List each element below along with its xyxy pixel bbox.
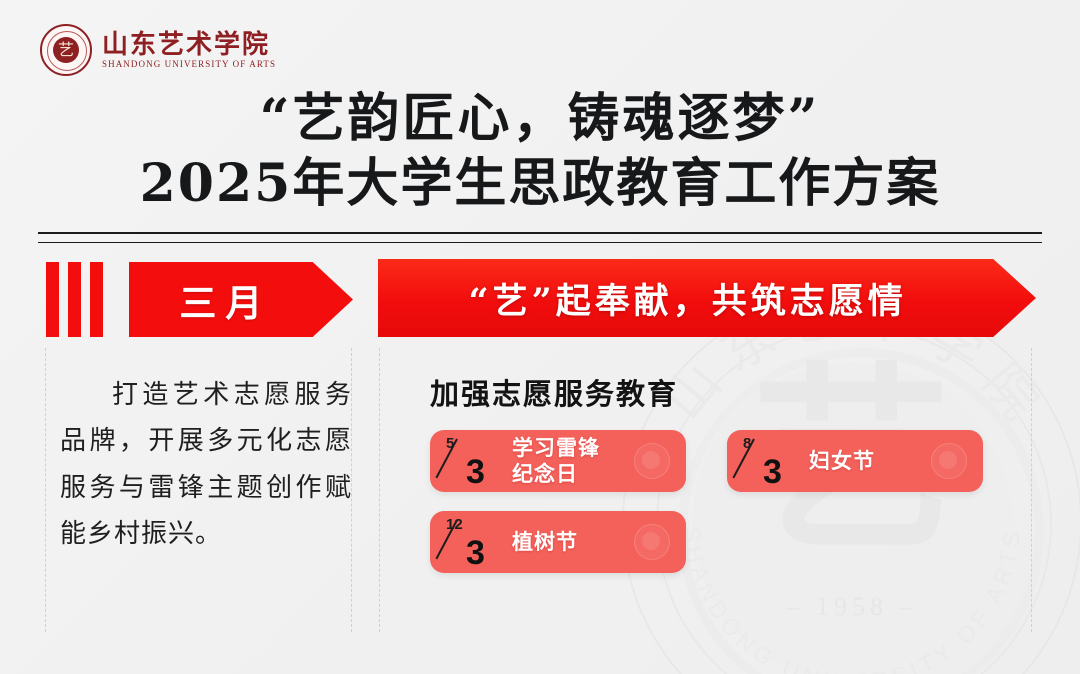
page-title: “艺韵匠心，铸魂逐梦” 2025年大学生思政教育工作方案	[0, 88, 1080, 215]
event-date: 12 3	[444, 516, 506, 568]
event-name: 学习雷锋 纪念日	[512, 435, 600, 486]
poster-canvas: 艺 – 1958 – 山 东 艺 术 学 院 SHANDONG UNIVERSI…	[0, 0, 1080, 674]
university-logo: 艺 山东艺术学院 SHANDONG UNIVERSITY OF ARTS	[40, 24, 276, 76]
month-accent-bars	[46, 262, 103, 337]
card-seal-icon	[634, 524, 670, 560]
event-card[interactable]: 8 3 妇女节	[727, 430, 983, 492]
event-card[interactable]: 5 3 学习雷锋 纪念日	[430, 430, 686, 492]
theme-banner: “艺”起奉献，共筑志愿情	[378, 259, 1036, 337]
university-seal-icon: 艺	[40, 24, 92, 76]
accent-bar-3	[90, 262, 103, 337]
event-date: 8 3	[741, 435, 803, 487]
divider-dashed-mid-b	[379, 348, 380, 632]
event-card-list: 5 3 学习雷锋 纪念日 8 3 妇女节	[430, 430, 1030, 592]
divider-rule-top	[38, 232, 1042, 234]
theme-banner-label: “艺”起奉献，共筑志愿情	[378, 273, 993, 324]
event-card-row: 5 3 学习雷锋 纪念日 8 3 妇女节	[430, 430, 1030, 492]
event-month: 3	[763, 455, 782, 489]
university-name-en: SHANDONG UNIVERSITY OF ARTS	[102, 60, 276, 69]
seal-glyph: 艺	[53, 37, 79, 63]
event-date: 5 3	[444, 435, 506, 487]
title-subject: 2025年大学生思政教育工作方案	[0, 153, 1080, 214]
divider-rule-bottom	[38, 242, 1042, 243]
card-seal-icon	[634, 443, 670, 479]
event-month: 3	[466, 536, 485, 570]
section-title: 加强志愿服务教育	[430, 371, 678, 413]
event-name: 妇女节	[809, 448, 875, 474]
accent-bar-2	[68, 262, 81, 337]
event-name-line1: 学习雷锋	[512, 435, 600, 460]
event-name-line1: 植树节	[512, 529, 578, 554]
logo-text-block: 山东艺术学院 SHANDONG UNIVERSITY OF ARTS	[102, 32, 276, 69]
divider-dashed-left	[45, 348, 46, 632]
university-name-cn: 山东艺术学院	[102, 32, 276, 58]
month-arrow-banner: 三月	[129, 262, 353, 337]
month-description: 打造艺术志愿服务品牌，开展多元化志愿服务与雷锋主题创作赋能乡村振兴。	[60, 372, 352, 557]
event-name-line2: 纪念日	[512, 461, 600, 487]
title-slogan: “艺韵匠心，铸魂逐梦”	[0, 88, 1080, 149]
divider-dashed-right	[1031, 348, 1032, 632]
accent-bar-1	[46, 262, 59, 337]
event-card[interactable]: 12 3 植树节	[430, 511, 686, 573]
watermark-founding-year: – 1958 –	[622, 592, 1080, 622]
month-label: 三月	[129, 273, 313, 327]
event-name-line1: 妇女节	[809, 448, 875, 473]
card-seal-icon	[931, 443, 967, 479]
event-card-row: 12 3 植树节	[430, 511, 1030, 573]
event-month: 3	[466, 455, 485, 489]
event-name: 植树节	[512, 529, 578, 555]
